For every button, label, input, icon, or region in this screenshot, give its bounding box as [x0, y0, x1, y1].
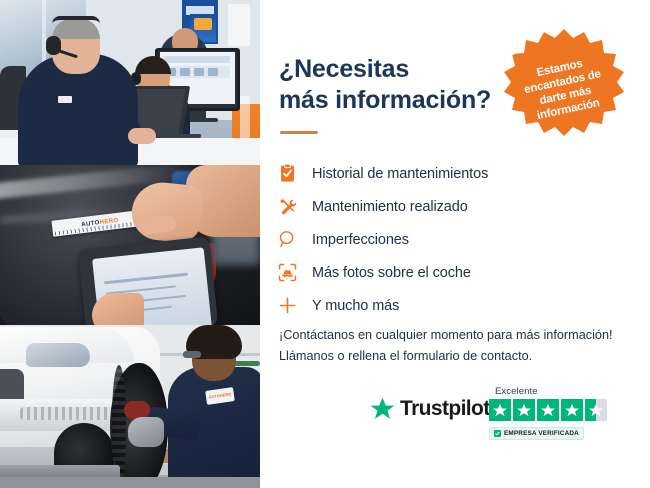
trustpilot-star-icon — [370, 397, 395, 421]
magnifier-icon — [278, 230, 312, 249]
contact-paragraph: ¡Contáctanos en cualquier momento para m… — [279, 325, 635, 366]
paragraph-line-1: ¡Contáctanos en cualquier momento para m… — [279, 328, 613, 342]
tools-cross-icon — [278, 197, 312, 216]
feature-item-more-photos: Más fotos sobre el coche — [278, 256, 638, 289]
page-title: ¿Necesitas más información? — [279, 54, 529, 115]
star-4 — [561, 399, 583, 421]
car-scan-icon — [278, 263, 312, 282]
photo-wheel-check: AUTOHERO — [0, 325, 260, 488]
star-5-half — [585, 399, 607, 421]
trustpilot-wordmark: Trustpilot — [400, 397, 490, 421]
trustpilot-star-rating — [489, 399, 607, 421]
feature-item-maintenance-done: Mantenimiento realizado — [278, 190, 638, 223]
headset-icon — [492, 37, 517, 59]
feature-list: Historial de mantenimientos Mantenimient… — [278, 157, 638, 322]
trustpilot-rating-label: Excelente — [495, 386, 538, 397]
plus-icon — [278, 296, 312, 315]
trustpilot-widget[interactable]: Excelente Trustpilot — [370, 386, 638, 450]
feature-label: Mantenimiento realizado — [312, 199, 468, 215]
feature-item-much-more: Y mucho más — [278, 289, 638, 322]
feature-label: Imperfecciones — [312, 232, 409, 248]
feature-label: Historial de mantenimientos — [312, 166, 488, 182]
photo-call-center — [0, 0, 260, 165]
content-panel: ¿Necesitas más información? Estamos enca… — [260, 0, 650, 488]
starburst-badge: Estamos encantados de darte más informac… — [503, 28, 625, 150]
check-icon — [494, 430, 501, 437]
feature-label: Y mucho más — [312, 298, 399, 314]
clipboard-check-icon — [278, 164, 312, 183]
star-3 — [537, 399, 559, 421]
title-line-1: ¿Necesitas — [279, 55, 409, 83]
feature-item-maintenance-history: Historial de mantenimientos — [278, 157, 638, 190]
star-1 — [489, 399, 511, 421]
title-line-2: más información? — [279, 86, 491, 114]
paragraph-line-2: Llámanos o rellena el formulario de cont… — [279, 349, 532, 363]
photo-car-inspection: AUTOHERO — [0, 165, 260, 325]
verified-company-badge: EMPRESA VERIFICADA — [489, 427, 584, 440]
verified-label: EMPRESA VERIFICADA — [504, 430, 579, 437]
title-underline-rule — [280, 131, 318, 134]
badge-text: Estamos encantados de darte más informac… — [505, 50, 622, 127]
promo-card: AUTOHERO AUTOHERO — [0, 0, 650, 488]
feature-item-imperfections: Imperfecciones — [278, 223, 638, 256]
trustpilot-logo: Trustpilot — [370, 397, 490, 421]
star-2 — [513, 399, 535, 421]
photo-collage: AUTOHERO AUTOHERO — [0, 0, 260, 488]
feature-label: Más fotos sobre el coche — [312, 265, 471, 281]
